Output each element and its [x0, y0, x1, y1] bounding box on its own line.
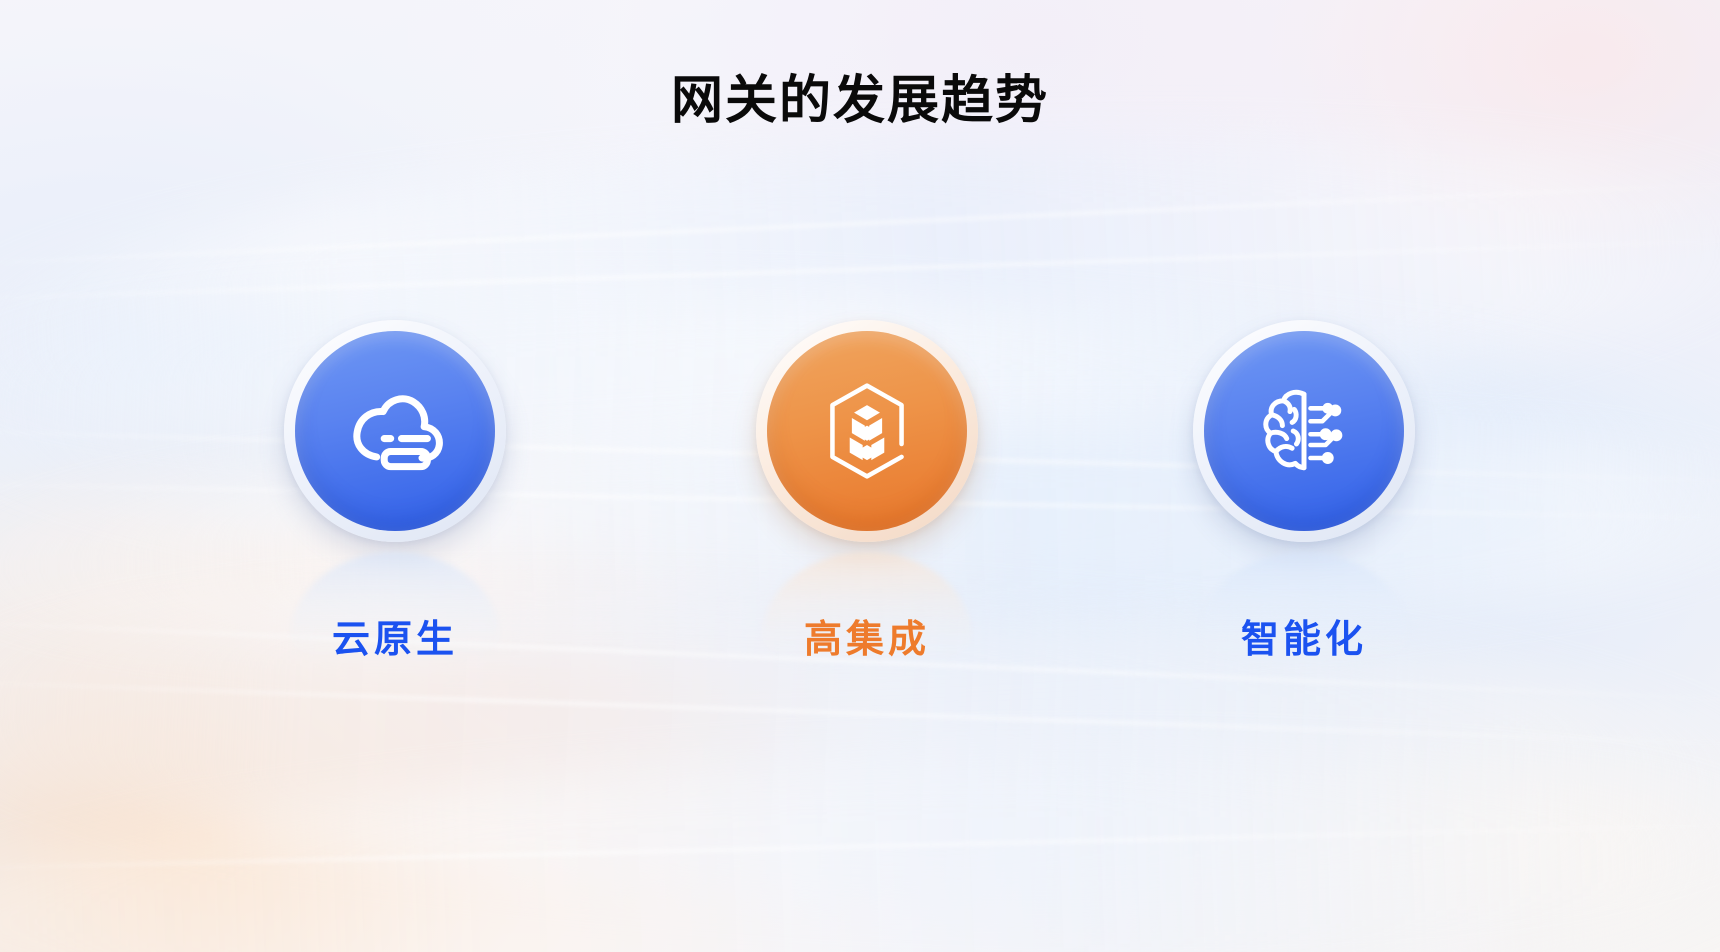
hexagon-cube-cluster-icon — [813, 377, 921, 485]
cloud-server-icon — [341, 377, 449, 485]
ai-brain-circuit-icon — [1250, 377, 1358, 485]
badge-disc — [295, 331, 495, 531]
trend-label: 高集成 — [707, 608, 1027, 663]
trend-label: 云原生 — [235, 608, 555, 663]
icon-badge-cloud-native[interactable] — [284, 320, 506, 542]
trend-item-high-integration[interactable]: 高集成 — [707, 320, 1027, 542]
badge-disc — [767, 331, 967, 531]
badge-disc — [1204, 331, 1404, 531]
icon-badge-high-integration[interactable] — [756, 320, 978, 542]
icon-badge-intelligent[interactable] — [1193, 320, 1415, 542]
trend-item-intelligent[interactable]: 智能化 — [1144, 320, 1464, 542]
trend-label: 智能化 — [1144, 608, 1464, 663]
slide-canvas: 网关的发展趋势 云原生 — [0, 0, 1720, 952]
trend-items-row: 云原生 — [0, 320, 1720, 720]
page-title: 网关的发展趋势 — [0, 58, 1720, 133]
trend-item-cloud-native[interactable]: 云原生 — [235, 320, 555, 542]
